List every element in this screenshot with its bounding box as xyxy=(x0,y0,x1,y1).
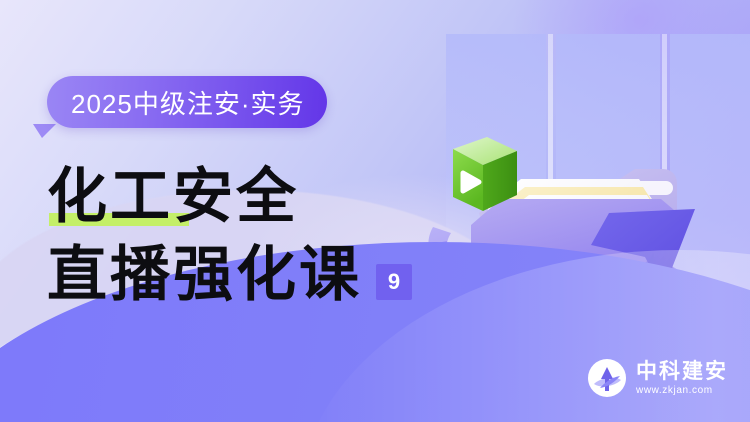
headline-row-1: 化工安全 xyxy=(47,160,467,228)
brand-name-cn: 中科建安 xyxy=(636,361,728,383)
headline-row-2: 直播强化课 9 xyxy=(47,238,467,306)
zkjan-circle-logo-icon xyxy=(587,358,627,398)
episode-number-badge: 9 xyxy=(376,264,412,300)
headline-block: 化工安全 直播强化课 9 xyxy=(47,160,467,306)
badge-pill-tail xyxy=(33,124,56,138)
brand-website: www.zkjan.com xyxy=(636,385,728,396)
headline-line-1: 化工安全 xyxy=(47,166,299,228)
brand-logo-text: 中科建安 www.zkjan.com xyxy=(636,361,728,396)
brand-logo[interactable]: 中科建安 www.zkjan.com xyxy=(587,358,728,398)
course-promo-banner: 2025中级注安·实务 化工安全 直播强化课 9 中科建安 www.zkjan.… xyxy=(0,0,750,422)
headline-line-2: 直播强化课 xyxy=(47,244,362,306)
course-category-label: 2025中级注安·实务 xyxy=(71,84,305,121)
course-category-pill: 2025中级注安·实务 xyxy=(47,76,327,128)
